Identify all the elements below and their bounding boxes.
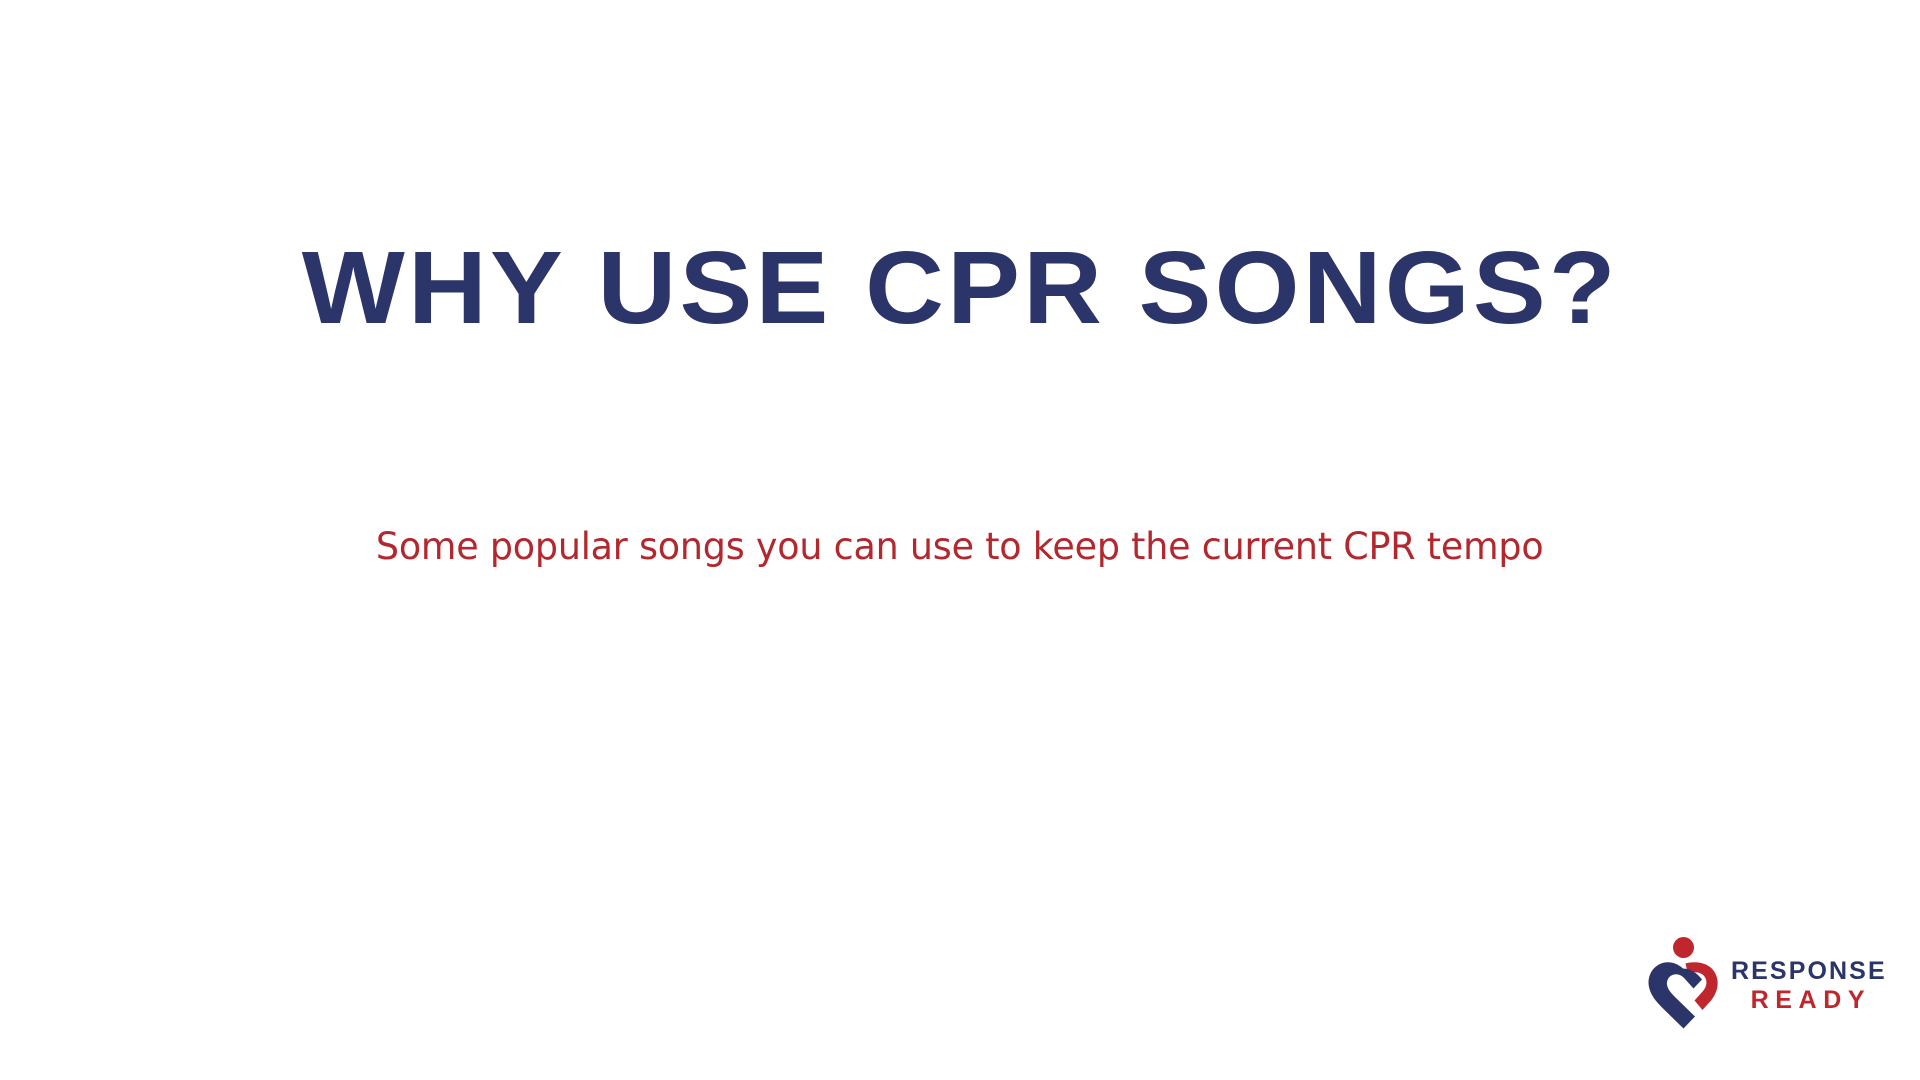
logo-wordmark: RESPONSE READY — [1731, 951, 1887, 1016]
slide-canvas: WHY USE CPR SONGS? Some popular songs yo… — [0, 0, 1920, 1080]
slide-subtitle: Some popular songs you can use to keep t… — [376, 524, 1544, 570]
logo-navy-heart — [1649, 962, 1702, 1028]
title-container: WHY USE CPR SONGS? — [0, 236, 1920, 339]
response-ready-logo: RESPONSE READY — [1645, 936, 1880, 1030]
logo-red-swoosh — [1686, 962, 1718, 1010]
response-ready-heart-figure-logo-mark — [1645, 937, 1721, 1029]
logo-text-response: RESPONSE — [1731, 957, 1887, 987]
subtitle-container: Some popular songs you can use to keep t… — [0, 524, 1920, 570]
page-title: WHY USE CPR SONGS? — [301, 236, 1618, 339]
logo-head-dot — [1673, 937, 1694, 958]
logo-text-ready: READY — [1731, 986, 1887, 1016]
